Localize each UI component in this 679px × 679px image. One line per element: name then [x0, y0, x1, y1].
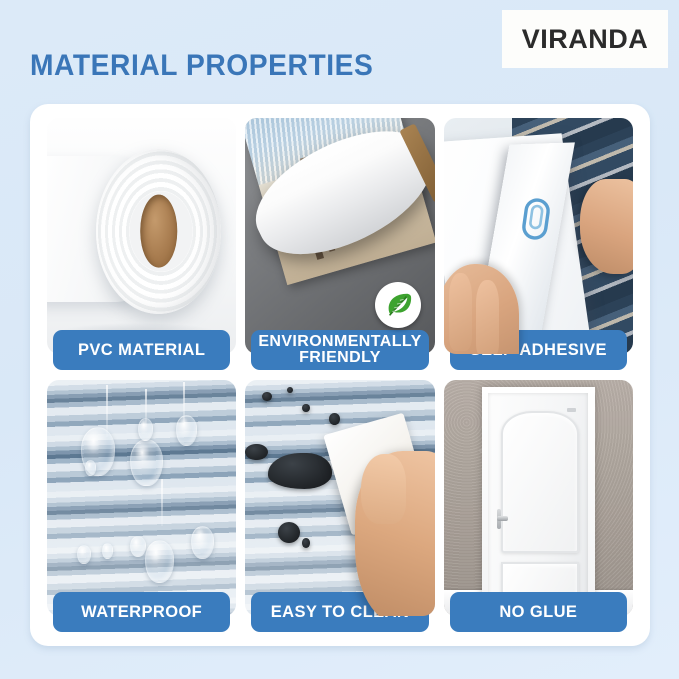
- self-adhesive-photo: [444, 118, 633, 354]
- paperclip-badge: [516, 194, 556, 244]
- eco-badge: [375, 282, 421, 328]
- page-title: MATERIAL PROPERTIES: [30, 49, 373, 83]
- feature-tile-environmentally-friendly[interactable]: ENVIRONMENTALLY FRIENDLY: [245, 118, 434, 370]
- cleaning-hand: [355, 451, 435, 616]
- brand-name: VIRANDA: [522, 24, 649, 55]
- feature-tile-waterproof[interactable]: WATERPROOF: [47, 380, 236, 632]
- door-handle: [492, 509, 508, 529]
- brand-logo: VIRANDA: [502, 10, 668, 68]
- pvc-roll-photo: [47, 118, 236, 354]
- feature-tile-easy-to-clean[interactable]: EASY TO CLEAN: [245, 380, 434, 632]
- no-glue-photo: [444, 380, 633, 616]
- paperclip-icon: [516, 194, 556, 244]
- feature-label-waterproof: WATERPROOF: [53, 592, 230, 632]
- infographic-page: VIRANDA MATERIAL PROPERTIES PVC MATERIAL: [0, 0, 679, 679]
- roll-core: [140, 195, 177, 268]
- easy-to-clean-photo: [245, 380, 434, 616]
- leaf-icon: [383, 290, 413, 320]
- feature-label-pvc-material: PVC MATERIAL: [53, 330, 230, 370]
- door-frame: [482, 387, 596, 616]
- feature-label-environmentally-friendly: ENVIRONMENTALLY FRIENDLY: [251, 330, 428, 370]
- feature-tile-pvc-material[interactable]: PVC MATERIAL: [47, 118, 236, 370]
- feature-tile-self-adhesive[interactable]: SELF-ADHESIVE: [444, 118, 633, 370]
- feature-tile-no-glue[interactable]: NO GLUE: [444, 380, 633, 632]
- eco-roll-photo: [245, 118, 434, 354]
- feature-card: PVC MATERIAL: [30, 104, 650, 646]
- waterproof-photo: [47, 380, 236, 616]
- feature-label-no-glue: NO GLUE: [450, 592, 627, 632]
- feature-grid: PVC MATERIAL: [47, 118, 633, 632]
- door-leaf: [488, 393, 588, 616]
